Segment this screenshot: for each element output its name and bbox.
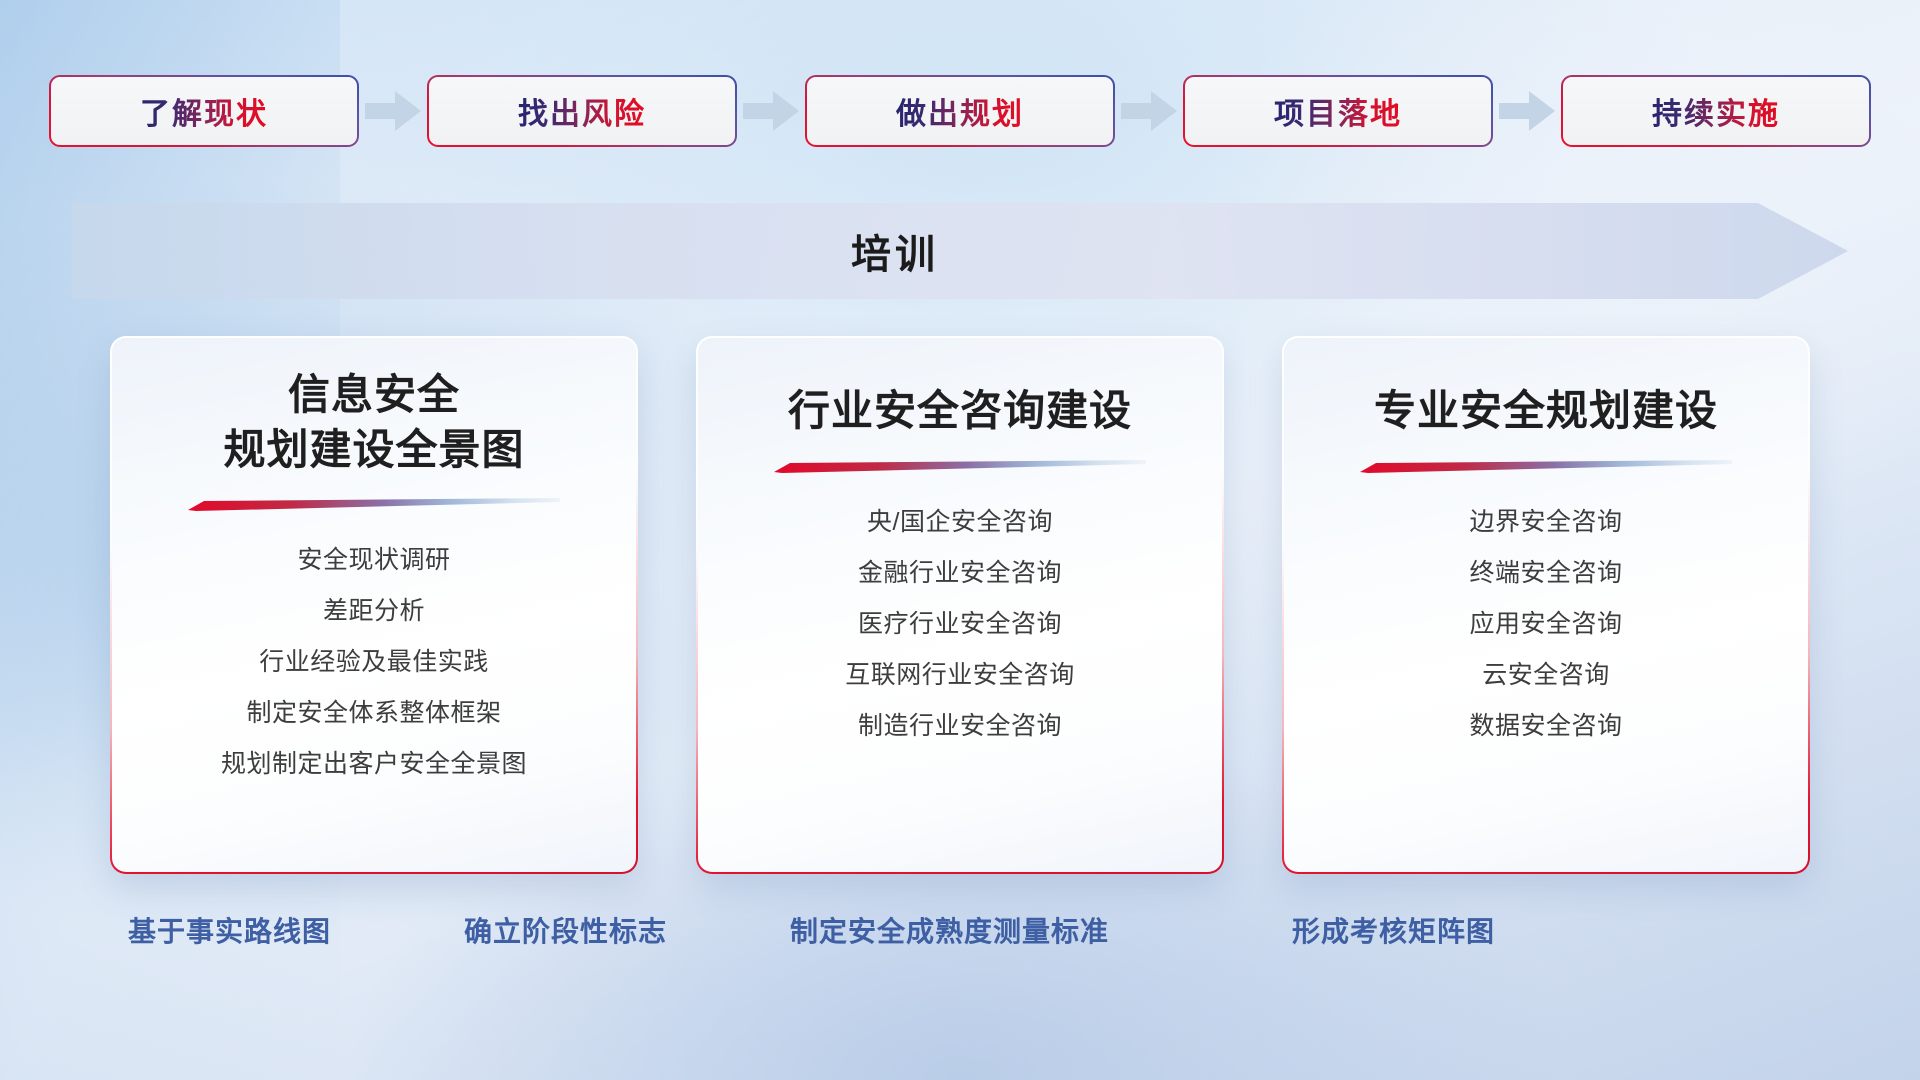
- card-2[interactable]: 行业安全咨询建设: [696, 336, 1224, 874]
- list-item: 金融行业安全咨询: [858, 548, 1062, 599]
- card-inner: 信息安全 规划建设全景图: [112, 338, 636, 872]
- step-chip-3[interactable]: 做出规划: [807, 77, 1113, 145]
- step-label: 了解现状: [140, 89, 268, 133]
- training-banner: 培训: [72, 203, 1848, 299]
- slide-canvas: 了解现状 找出风险 做出规划 项目落地: [0, 0, 1920, 1080]
- step-label: 持续实施: [1652, 89, 1780, 133]
- list-item: 央/国企安全咨询: [867, 497, 1053, 548]
- list-item: 行业经验及最佳实践: [259, 637, 489, 688]
- list-item: 安全现状调研: [297, 535, 450, 586]
- arrow-right-icon: [735, 89, 807, 133]
- footer-label-2: 确立阶段性标志: [464, 910, 667, 950]
- footer-label-row: 基于事实路线图 确立阶段性标志 制定安全成熟度测量标准 形成考核矩阵图: [0, 910, 1920, 972]
- card-1[interactable]: 信息安全 规划建设全景图: [110, 336, 638, 874]
- list-item: 终端安全咨询: [1469, 548, 1622, 599]
- list-item: 制定安全体系整体框架: [246, 688, 501, 739]
- list-item: 医疗行业安全咨询: [858, 599, 1062, 650]
- banner-title: 培训: [72, 203, 1848, 299]
- list-item: 边界安全咨询: [1469, 497, 1622, 548]
- process-step-row: 了解现状 找出风险 做出规划 项目落地: [0, 76, 1920, 146]
- card-title: 行业安全咨询建设: [788, 384, 1132, 439]
- card-list: 央/国企安全咨询 金融行业安全咨询 医疗行业安全咨询 互联网行业安全咨询 制造行…: [698, 497, 1222, 752]
- card-inner: 专业安全规划建设: [1284, 338, 1808, 872]
- list-item: 规划制定出客户安全全景图: [221, 739, 527, 790]
- card-3[interactable]: 专业安全规划建设: [1282, 336, 1810, 874]
- list-item: 云安全咨询: [1482, 650, 1610, 701]
- step-chip-2[interactable]: 找出风险: [429, 77, 735, 145]
- step-label: 找出风险: [518, 89, 646, 133]
- list-item: 差距分析: [323, 586, 425, 637]
- step-label: 项目落地: [1274, 89, 1402, 133]
- step-chip-5[interactable]: 持续实施: [1563, 77, 1869, 145]
- footer-label-1: 基于事实路线图: [128, 910, 331, 950]
- step-chip-1[interactable]: 了解现状: [51, 77, 357, 145]
- card-inner: 行业安全咨询建设: [698, 338, 1222, 872]
- footer-label-3: 制定安全成熟度测量标准: [790, 910, 1109, 950]
- arrow-right-icon: [1113, 89, 1185, 133]
- card-title: 信息安全 规划建设全景图: [223, 368, 524, 477]
- footer-label-4: 形成考核矩阵图: [1292, 910, 1495, 950]
- step-chip-4[interactable]: 项目落地: [1185, 77, 1491, 145]
- card-title: 专业安全规划建设: [1374, 384, 1718, 439]
- card-row: 信息安全 规划建设全景图: [0, 336, 1920, 876]
- list-item: 制造行业安全咨询: [858, 701, 1062, 752]
- list-item: 应用安全咨询: [1469, 599, 1622, 650]
- card-list: 安全现状调研 差距分析 行业经验及最佳实践 制定安全体系整体框架 规划制定出客户…: [112, 535, 636, 790]
- list-item: 互联网行业安全咨询: [845, 650, 1075, 701]
- card-divider: [1360, 459, 1732, 473]
- list-item: 数据安全咨询: [1469, 701, 1622, 752]
- step-label: 做出规划: [896, 89, 1024, 133]
- arrow-right-icon: [1491, 89, 1563, 133]
- card-divider: [188, 497, 560, 511]
- card-list: 边界安全咨询 终端安全咨询 应用安全咨询 云安全咨询 数据安全咨询: [1284, 497, 1808, 752]
- arrow-right-icon: [357, 89, 429, 133]
- card-divider: [774, 459, 1146, 473]
